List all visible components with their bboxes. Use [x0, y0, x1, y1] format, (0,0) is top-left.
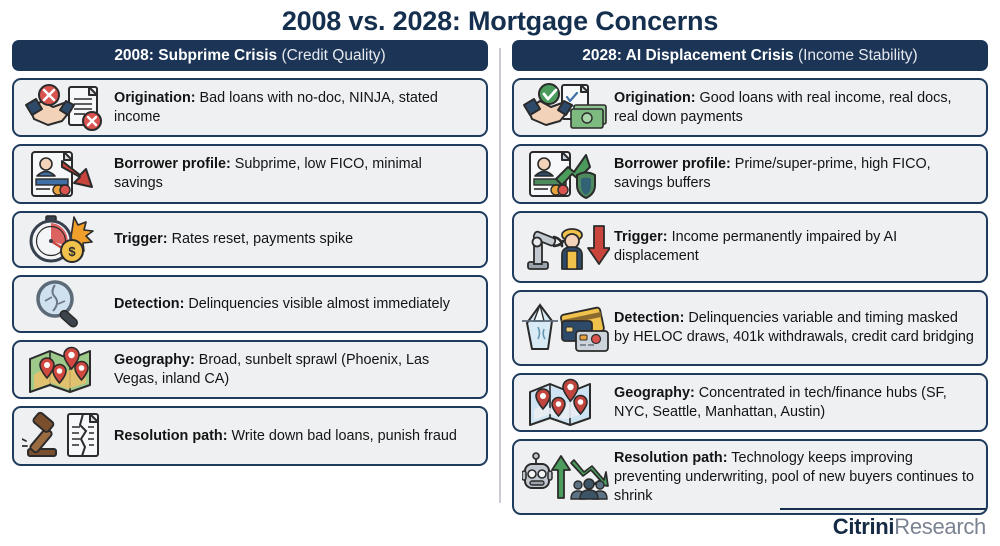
card-body: Write down bad loans, punish fraud — [228, 428, 457, 444]
column-2008: 2008: Subprime Crisis (Credit Quality) — [12, 40, 500, 515]
infographic-page: 2008 vs. 2028: Mortgage Concerns 2008: S… — [0, 0, 1000, 546]
card-label: Origination: — [614, 90, 696, 106]
footer-divider-rule — [780, 508, 986, 510]
citrini-research-logo: CitriniResearch — [780, 514, 986, 540]
card-label: Detection: — [114, 296, 184, 312]
card-origination-2028[interactable]: Origination: Good loans with real income… — [512, 78, 988, 137]
card-text-resolution-2008: Resolution path: Write down bad loans, p… — [112, 427, 478, 446]
card-trigger-2028[interactable]: Trigger: Income permanently impaired by … — [512, 211, 988, 283]
card-text-borrower-profile-2028: Borrower profile: Prime/super-prime, hig… — [612, 155, 978, 193]
card-label: Borrower profile: — [614, 156, 731, 172]
borrower-card-down-arrow-icon — [20, 148, 112, 200]
card-label: Trigger: — [614, 229, 668, 245]
page-title: 2008 vs. 2028: Mortgage Concerns — [0, 0, 1000, 40]
card-text-resolution-2028: Resolution path: Technology keeps improv… — [612, 449, 978, 506]
card-geography-2008[interactable]: Geography: Broad, sunbelt sprawl (Phoeni… — [12, 340, 488, 399]
borrower-card-up-arrow-shield-icon — [520, 148, 612, 200]
card-text-detection-2008: Detection: Delinquencies visible almost … — [112, 295, 478, 314]
card-text-geography-2008: Geography: Broad, sunbelt sprawl (Phoeni… — [112, 351, 478, 389]
footer-brand: CitriniResearch — [780, 508, 986, 540]
card-text-origination-2008: Origination: Bad loans with no-doc, NINJ… — [112, 89, 478, 127]
column-header-2028-sub: (Income Stability) — [798, 47, 918, 64]
logo-bold-part: Citrini — [833, 514, 894, 539]
card-resolution-2028[interactable]: Resolution path: Technology keeps improv… — [512, 439, 988, 515]
column-header-2008: 2008: Subprime Crisis (Credit Quality) — [12, 40, 488, 71]
column-header-2028-main: 2028: AI Displacement Crisis — [582, 47, 793, 64]
column-header-2008-sub: (Credit Quality) — [281, 47, 385, 64]
column-header-2008-main: 2008: Subprime Crisis — [114, 47, 277, 64]
card-trigger-2008[interactable]: $ Trigger: Rates reset, payments spike — [12, 211, 488, 268]
stopwatch-burst-coin-icon: $ — [20, 214, 112, 266]
card-text-trigger-2028: Trigger: Income permanently impaired by … — [612, 228, 978, 266]
card-geography-2028[interactable]: Geography: Concentrated in tech/finance … — [512, 373, 988, 432]
card-borrower-profile-2008[interactable]: Borrower profile: Subprime, low FICO, mi… — [12, 144, 488, 204]
column-header-2028: 2028: AI Displacement Crisis (Income Sta… — [512, 40, 988, 71]
card-origination-2008[interactable]: Origination: Bad loans with no-doc, NINJ… — [12, 78, 488, 137]
cracked-magnifier-icon — [20, 278, 112, 330]
card-label: Resolution path: — [614, 450, 728, 466]
card-text-detection-2028: Detection: Delinquencies variable and ti… — [612, 309, 978, 347]
logo-light-part: Research — [894, 514, 986, 539]
card-text-trigger-2008: Trigger: Rates reset, payments spike — [112, 230, 478, 249]
card-label: Borrower profile: — [114, 156, 231, 172]
folded-map-pins-blue-icon — [520, 377, 612, 429]
card-text-origination-2028: Origination: Good loans with real income… — [612, 89, 978, 127]
card-borrower-profile-2028[interactable]: Borrower profile: Prime/super-prime, hig… — [512, 144, 988, 204]
card-body: Rates reset, payments spike — [168, 231, 354, 247]
card-resolution-2008[interactable]: Resolution path: Write down bad loans, p… — [12, 406, 488, 466]
card-label: Resolution path: — [114, 428, 228, 444]
robot-arrows-crowd-icon — [520, 451, 612, 503]
card-label: Geography: — [114, 352, 195, 368]
columns-container: 2008: Subprime Crisis (Credit Quality) — [0, 40, 1000, 515]
card-text-geography-2028: Geography: Concentrated in tech/finance … — [612, 384, 978, 422]
card-label: Trigger: — [114, 231, 168, 247]
column-divider — [499, 48, 501, 503]
card-label: Geography: — [614, 385, 695, 401]
handshake-approved-cash-icon — [520, 82, 612, 134]
svg-text:$: $ — [68, 244, 76, 259]
handshake-rejected-doc-icon — [20, 82, 112, 134]
card-detection-2008[interactable]: Detection: Delinquencies visible almost … — [12, 275, 488, 333]
card-label: Detection: — [614, 310, 684, 326]
robot-arm-worker-down-arrow-icon — [520, 221, 612, 273]
card-body: Delinquencies visible almost immediately — [184, 296, 450, 312]
card-label: Origination: — [114, 90, 196, 106]
card-text-borrower-profile-2008: Borrower profile: Subprime, low FICO, mi… — [112, 155, 478, 193]
iceberg-credit-cards-icon — [520, 302, 612, 354]
column-2028: 2028: AI Displacement Crisis (Income Sta… — [500, 40, 988, 515]
gavel-torn-document-icon — [20, 410, 112, 462]
card-detection-2028[interactable]: Detection: Delinquencies variable and ti… — [512, 290, 988, 366]
folded-map-pins-green-icon — [20, 344, 112, 396]
